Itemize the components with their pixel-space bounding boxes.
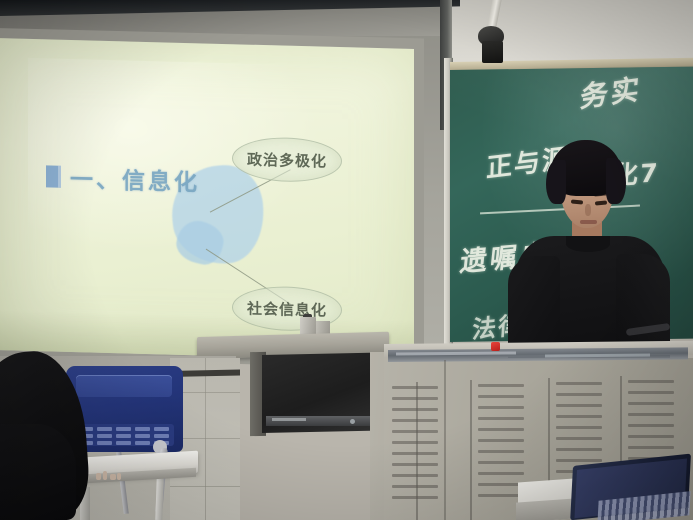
chair-mesh-bar xyxy=(154,434,169,438)
vent-slat xyxy=(478,461,524,464)
cabinet-seam-2 xyxy=(470,380,472,520)
seated-person-lower xyxy=(0,424,76,520)
cabinet-seam-1 xyxy=(416,382,418,520)
vent-slat xyxy=(628,413,674,416)
vent-slat xyxy=(478,439,524,442)
chair-mesh-bar xyxy=(97,427,112,431)
vent-slat xyxy=(628,402,674,405)
vent-slat xyxy=(556,426,602,429)
vent-slat xyxy=(556,382,602,385)
chair-mesh-bar xyxy=(135,427,150,431)
classroom-scene: 一、信息化 政治多极化 社会信息化 务实 罗化7 正与源 遗嘱自 法律化 ～ xyxy=(0,0,693,520)
red-object xyxy=(491,342,500,351)
vent-slat xyxy=(556,459,602,462)
vent-slat xyxy=(392,474,438,477)
chair-mesh-bar xyxy=(97,434,112,438)
vent-slat xyxy=(392,463,438,466)
vent-slat xyxy=(478,417,524,420)
chair-mesh-bar xyxy=(116,441,131,445)
vent-slat xyxy=(556,448,602,451)
vent-slat xyxy=(392,441,438,444)
mouth xyxy=(580,220,597,224)
mindmap-node-political-label: 政治多极化 xyxy=(247,148,327,171)
vent-slat xyxy=(628,435,674,438)
vent-slat xyxy=(478,395,524,398)
blue-square-bullet-icon xyxy=(46,165,61,187)
vent-slat xyxy=(628,446,674,449)
podium-knob xyxy=(350,419,355,424)
desk-leg-right xyxy=(155,478,163,520)
desk-item-3 xyxy=(110,474,116,480)
desk-small-items xyxy=(96,471,122,480)
vent-slat xyxy=(392,430,438,433)
vent-slat xyxy=(392,408,438,411)
student-collar xyxy=(566,236,610,252)
chair-mesh-bar xyxy=(116,434,131,438)
vent-slat xyxy=(392,397,438,400)
vent-slat xyxy=(478,472,524,475)
vent-slat xyxy=(556,404,602,407)
projection-screen: 一、信息化 政治多极化 社会信息化 xyxy=(0,38,414,361)
vent-slat xyxy=(392,452,438,455)
chair-mesh-bar xyxy=(154,427,169,431)
vent-slat xyxy=(628,380,674,383)
tile-line xyxy=(205,358,206,520)
chair-mesh-bar xyxy=(135,434,150,438)
chair-mesh-bar xyxy=(116,427,131,431)
chair-mesh-bar xyxy=(135,441,150,445)
vent-slat xyxy=(556,393,602,396)
vent-slat xyxy=(478,406,524,409)
vent-slat xyxy=(478,384,524,387)
cabinet-divider xyxy=(444,360,446,520)
vent-slat xyxy=(392,386,438,389)
hair-side-right xyxy=(606,158,626,204)
nose xyxy=(585,204,591,216)
vent-slat xyxy=(556,415,602,418)
chair-upper-panel xyxy=(76,375,172,397)
vent-slat xyxy=(392,485,438,488)
chair-mesh-bar xyxy=(97,441,112,445)
camera-body xyxy=(482,41,503,63)
vent-slat xyxy=(392,496,438,499)
vent-slat xyxy=(628,391,674,394)
desk-item-2 xyxy=(103,471,107,480)
vent-slat xyxy=(392,419,438,422)
slide-heading-text: 一、信息化 xyxy=(70,160,200,197)
vent-slat xyxy=(556,437,602,440)
hair-side-left xyxy=(546,160,566,204)
desk-item-1 xyxy=(96,473,101,480)
vent-slat xyxy=(478,428,524,431)
slide-heading: 一、信息化 xyxy=(46,159,200,197)
podium-inner-highlight xyxy=(272,418,306,421)
vent-slat xyxy=(628,424,674,427)
vent-slat xyxy=(478,450,524,453)
desk-item-4 xyxy=(117,473,121,480)
